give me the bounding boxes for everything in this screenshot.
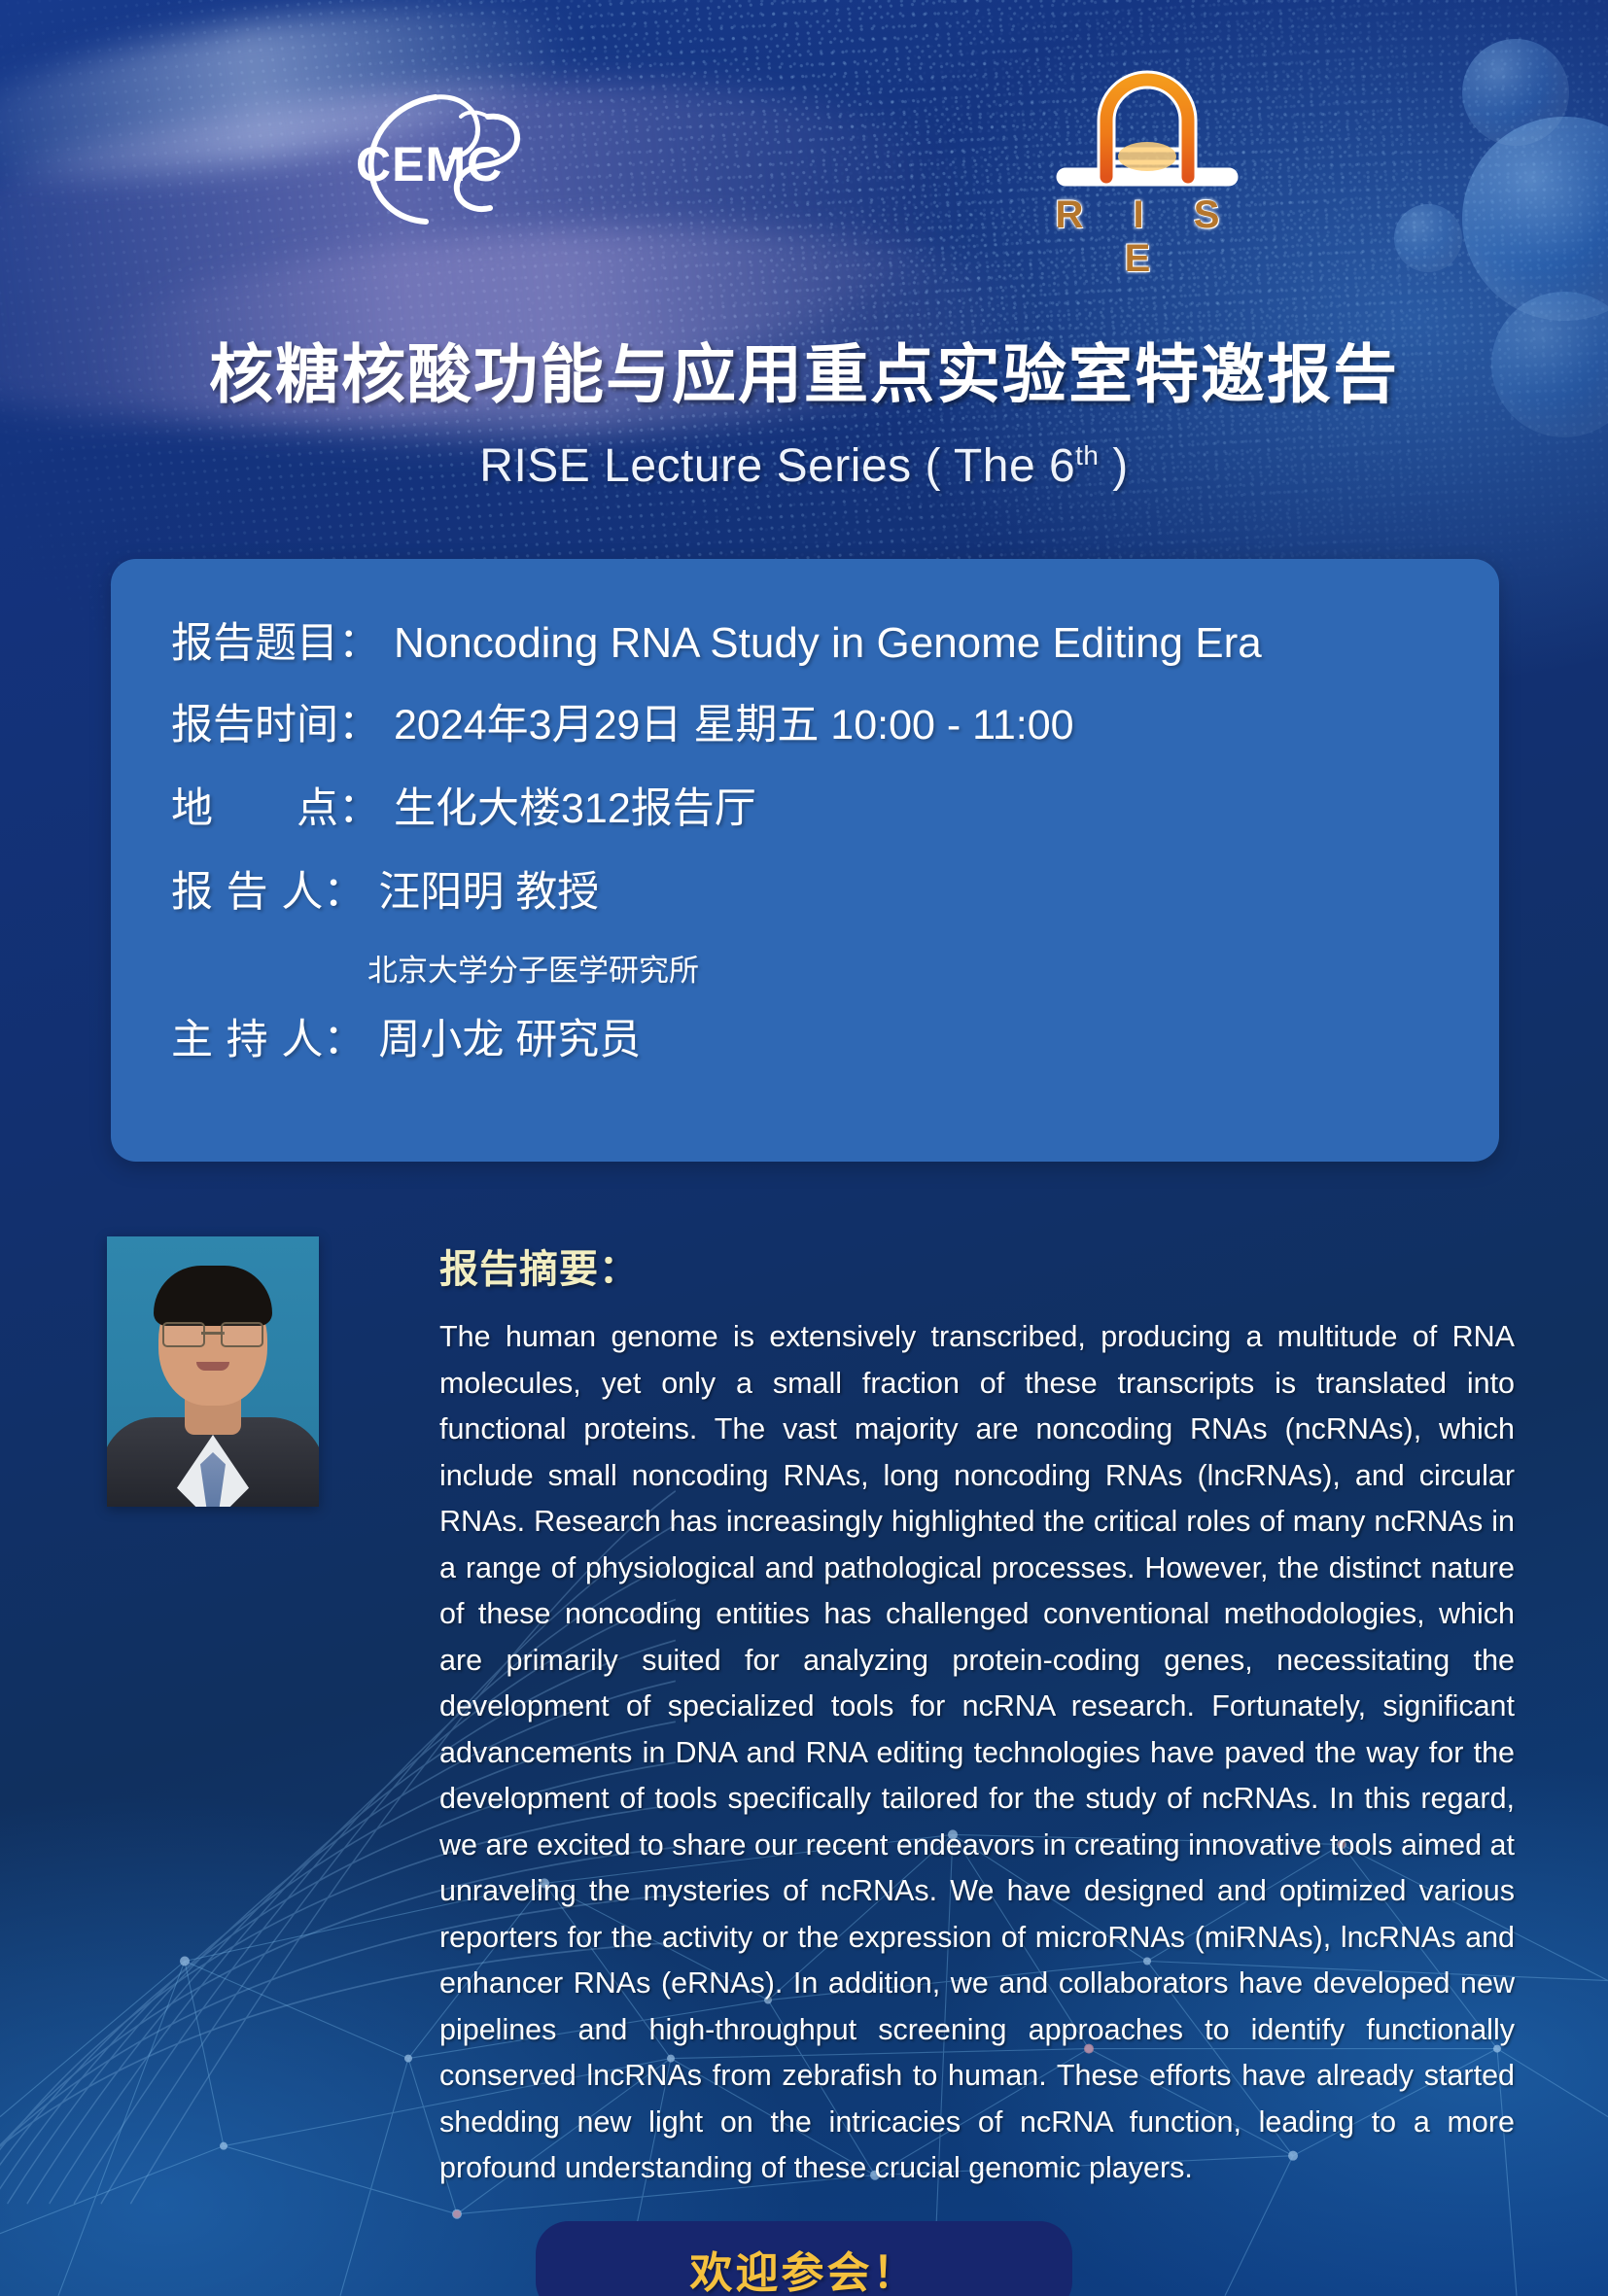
rise-wordmark: R I S E — [1031, 193, 1264, 281]
rise-rna-stemloop-icon — [1031, 60, 1264, 187]
rise-logo: R I S E — [1031, 60, 1264, 245]
speaker-label: 报 告 人： — [171, 858, 365, 919]
venue-label: 地 点： — [171, 775, 380, 835]
cemc-wordmark: CEMC — [356, 136, 503, 192]
avatar — [107, 1236, 319, 1507]
poster-root: CEMC — [0, 0, 1608, 2296]
topic-value: Noncoding RNA Study in Genome Editing Er… — [394, 619, 1262, 668]
datetime-label: 报告时间： — [171, 691, 380, 751]
speaker-affiliation: 北京大学分子医学研究所 — [367, 946, 699, 990]
info-row-host: 主 持 人： 周小龙 研究员 — [171, 1006, 641, 1066]
subtitle-suffix: ) — [1099, 440, 1128, 492]
datetime-value: 2024年3月29日 星期五 10:00 - 11:00 — [394, 691, 1074, 751]
subtitle-prefix: RISE Lecture Series ( The 6 — [479, 440, 1075, 492]
footer-cta: 欢迎参会！ — [0, 2238, 1608, 2296]
host-label: 主 持 人： — [171, 1006, 365, 1066]
logo-bar: CEMC — [0, 56, 1608, 241]
page-subtitle: RISE Lecture Series ( The 6th ) — [0, 439, 1608, 493]
cemc-logo: CEMC — [342, 82, 566, 227]
page-title: 核糖核酸功能与应用重点实验室特邀报告 — [0, 323, 1608, 416]
venue-value: 生化大楼312报告厅 — [394, 775, 756, 835]
speaker-value: 汪阳明 教授 — [378, 858, 599, 919]
portrait-mouth — [196, 1362, 229, 1371]
topic-label: 报告题目： — [171, 609, 380, 670]
info-row-venue: 地 点： 生化大楼312报告厅 — [171, 775, 756, 835]
info-row-speaker: 报 告 人： 汪阳明 教授 — [171, 858, 599, 919]
host-value: 周小龙 研究员 — [378, 1006, 641, 1066]
abstract-body: The human genome is extensively transcri… — [439, 1314, 1515, 2192]
abstract-heading: 报告摘要： — [439, 1237, 639, 1294]
portrait-glasses — [162, 1322, 263, 1343]
info-row-datetime: 报告时间： 2024年3月29日 星期五 10:00 - 11:00 — [171, 691, 1074, 751]
lecture-info-card: 报告题目： Noncoding RNA Study in Genome Edit… — [111, 559, 1499, 1162]
subtitle-ordinal: th — [1075, 440, 1099, 470]
info-row-topic: 报告题目： Noncoding RNA Study in Genome Edit… — [171, 609, 1262, 670]
